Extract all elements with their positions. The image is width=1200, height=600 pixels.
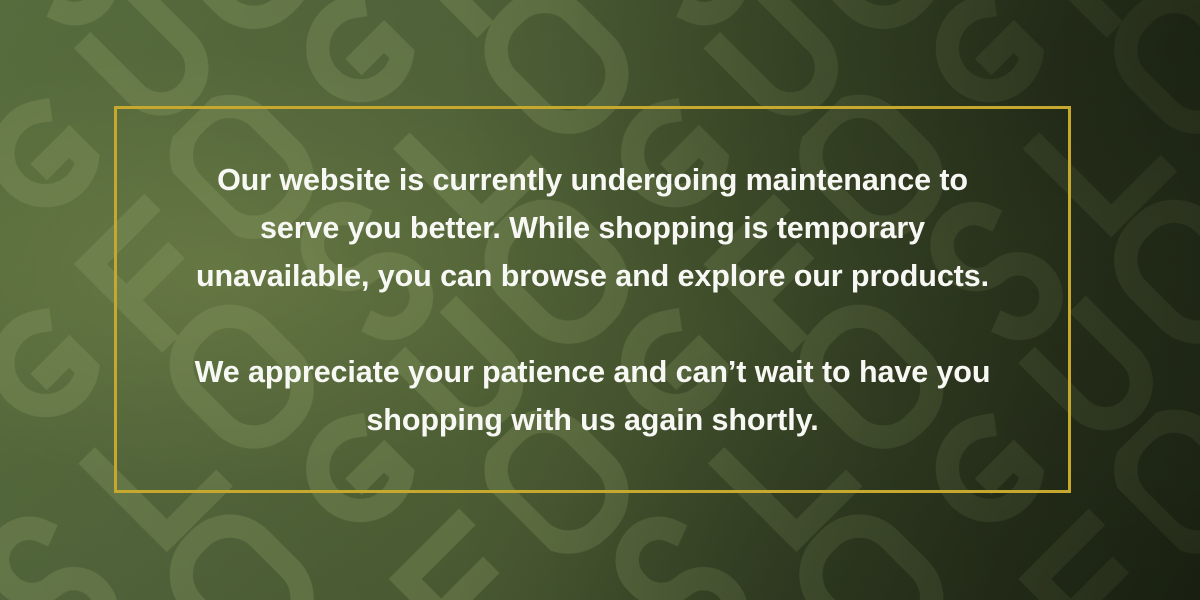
maintenance-message-paragraph-1: Our website is currently undergoing main… [148,156,1038,300]
paragraph-spacer [148,300,1038,348]
message-frame: Our website is currently undergoing main… [114,106,1071,493]
maintenance-banner: Our website is currently undergoing main… [0,0,1200,600]
message-body: Our website is currently undergoing main… [148,156,1038,444]
maintenance-message-paragraph-2: We appreciate your patience and can’t wa… [148,348,1038,444]
